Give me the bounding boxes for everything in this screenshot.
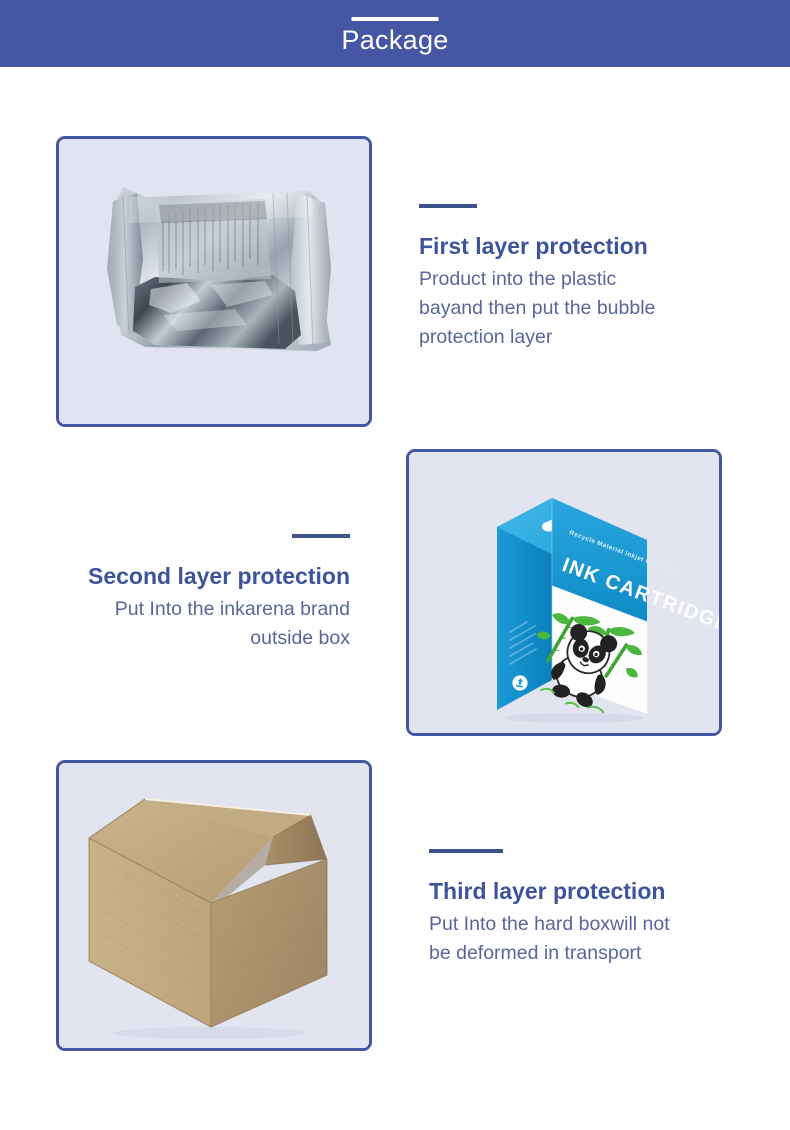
body-line: Product into the plastic xyxy=(419,265,655,294)
accent-rule-first-layer xyxy=(419,204,477,208)
heading-second-layer: Second layer protection xyxy=(50,561,350,592)
body-line: Put Into the inkarena brand xyxy=(50,595,350,624)
image-frame-first-layer xyxy=(56,136,372,427)
image-frame-third-layer xyxy=(56,760,372,1051)
package-infographic-page: Package xyxy=(0,0,790,1130)
accent-rule-third-layer xyxy=(429,849,503,853)
antistatic-plastic-bag-photo xyxy=(59,139,369,424)
accent-rule-second-layer xyxy=(292,534,350,538)
text-block-first-layer: First layer protection Product into the … xyxy=(419,204,655,352)
body-line: protection layer xyxy=(419,323,655,352)
ink-cartridge-box-photo: INK CARTRIDGE Recycle Material Inkjet Ca… xyxy=(409,452,719,733)
image-frame-second-layer: INK CARTRIDGE Recycle Material Inkjet Ca… xyxy=(406,449,722,736)
heading-third-layer: Third layer protection xyxy=(429,876,670,907)
text-block-second-layer: Second layer protection Put Into the ink… xyxy=(50,534,350,653)
header-accent-rule xyxy=(352,17,439,21)
cardboard-shipping-box-photo xyxy=(59,763,369,1048)
heading-first-layer: First layer protection xyxy=(419,231,655,262)
page-header: Package xyxy=(0,0,790,67)
page-title: Package xyxy=(0,23,790,57)
body-line: Put Into the hard boxwill not xyxy=(429,910,670,939)
body-line: be deformed in transport xyxy=(429,939,670,968)
text-block-third-layer: Third layer protection Put Into the hard… xyxy=(429,849,670,968)
body-line: bayand then put the bubble xyxy=(419,294,655,323)
recycle-icon xyxy=(512,675,527,690)
body-line: outside box xyxy=(50,624,350,653)
